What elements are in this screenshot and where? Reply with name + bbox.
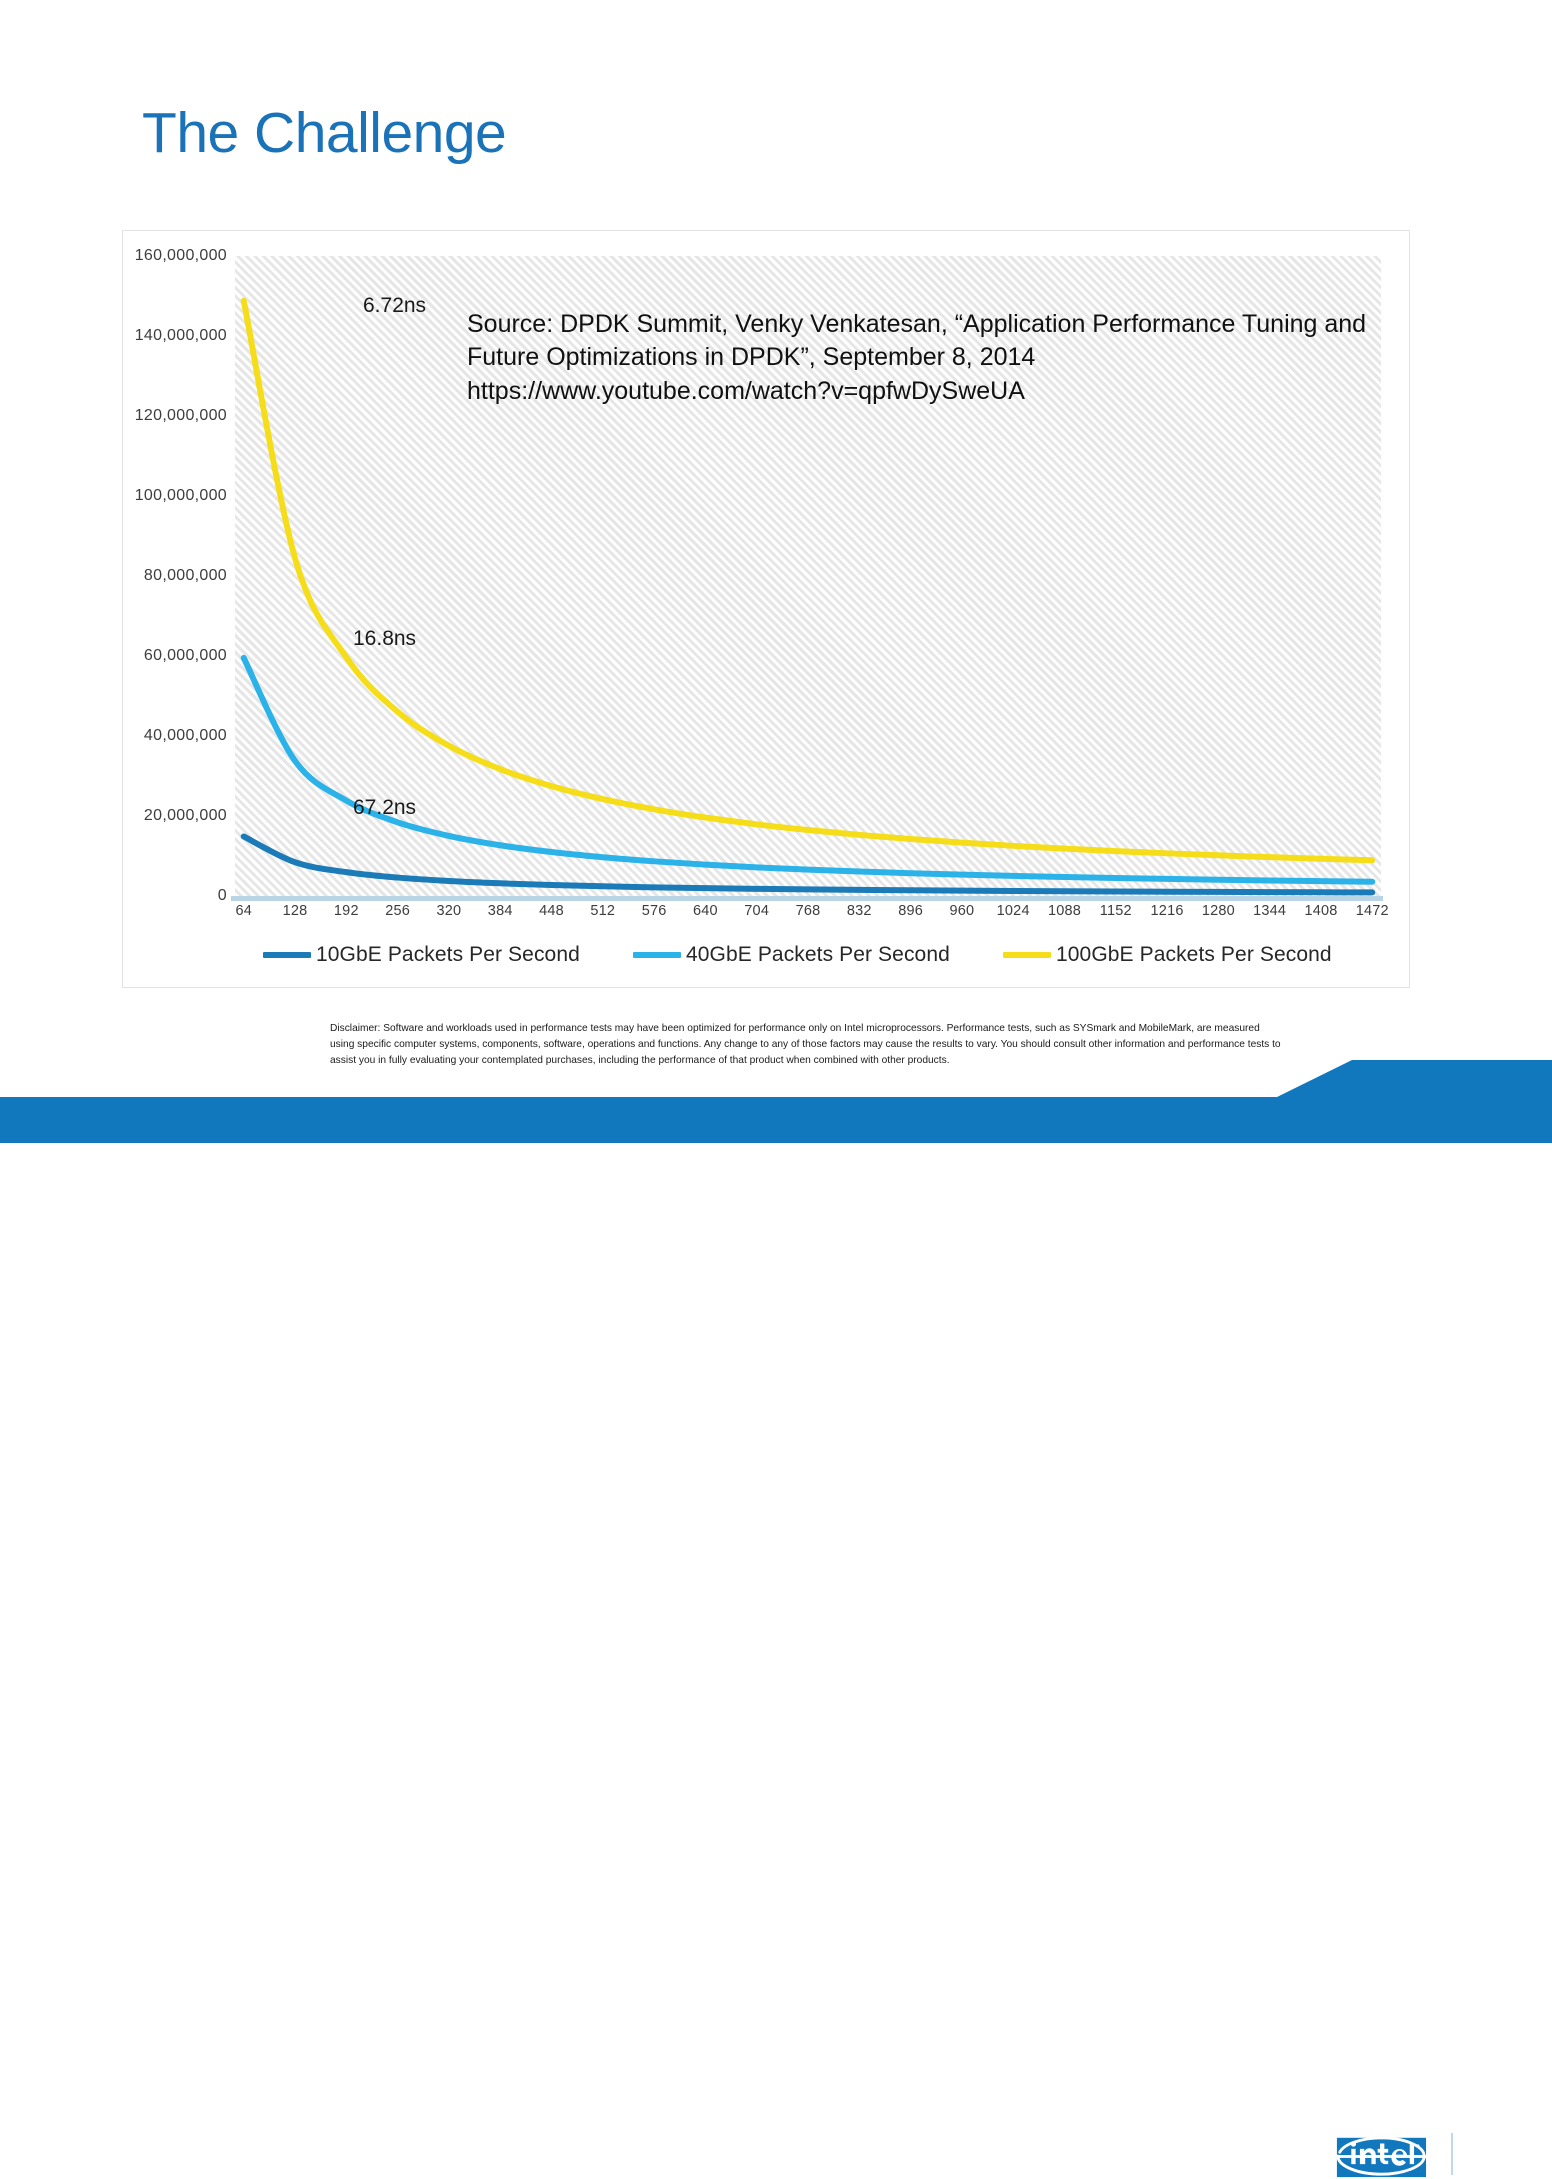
x-axis-tick-label: 960	[949, 903, 974, 919]
y-axis-tick-label: 20,000,000	[144, 807, 227, 825]
x-axis-tick-label: 768	[796, 903, 821, 919]
x-axis-tick-label: 1344	[1253, 903, 1286, 919]
disclaimer-text: Disclaimer: Software and workloads used …	[330, 1021, 1285, 1068]
y-axis-tick-label: 60,000,000	[144, 647, 227, 665]
x-axis-tick-label: 256	[385, 903, 410, 919]
y-axis-tick-label: 120,000,000	[135, 407, 227, 425]
y-axis-tick-label: 80,000,000	[144, 567, 227, 585]
y-axis-tick-label: 160,000,000	[135, 247, 227, 265]
x-axis-line	[231, 896, 1383, 901]
source-note-line-2: Future Optimizations in DPDK”, September…	[467, 341, 1482, 374]
x-axis-tick-label: 1152	[1100, 903, 1132, 919]
legend-item[interactable]: 40GbE Packets Per Second	[633, 943, 950, 967]
legend-item[interactable]: 100GbE Packets Per Second	[1003, 943, 1332, 967]
legend-color-swatch	[633, 952, 681, 958]
y-axis-ticks: 160,000,000140,000,000120,000,000100,000…	[123, 231, 227, 987]
legend-label: 40GbE Packets Per Second	[686, 943, 950, 967]
y-axis-tick-label: 100,000,000	[135, 487, 227, 505]
x-axis-ticks: 6412819225632038444851257664070476883289…	[235, 903, 1381, 929]
plot-annotation: 6.72ns	[363, 294, 426, 318]
intel-logo	[1333, 2133, 1429, 2179]
source-note-line-3: https://www.youtube.com/watch?v=qpfwDySw…	[467, 375, 1482, 408]
plot-annotation: 67.2ns	[353, 796, 416, 820]
footer-shape	[0, 1060, 1552, 1199]
x-axis-tick-label: 1280	[1202, 903, 1235, 919]
legend-label: 10GbE Packets Per Second	[316, 943, 580, 967]
x-axis-tick-label: 448	[539, 903, 564, 919]
x-axis-tick-label: 128	[283, 903, 308, 919]
source-note: Source: DPDK Summit, Venky Venkatesan, “…	[467, 308, 1482, 408]
x-axis-tick-label: 1088	[1048, 903, 1081, 919]
x-axis-tick-label: 1408	[1304, 903, 1337, 919]
legend-label: 100GbE Packets Per Second	[1056, 943, 1332, 967]
y-axis-tick-label: 0	[218, 887, 227, 905]
series-line	[244, 836, 1373, 892]
x-axis-tick-label: 576	[642, 903, 667, 919]
legend-color-swatch	[1003, 952, 1051, 958]
page-title: The Challenge	[142, 104, 506, 164]
series-line	[244, 658, 1373, 882]
chart-container: Saturation Line Rate (MPPS) 160,000,0001…	[122, 230, 1410, 988]
plot-area: Source: DPDK Summit, Venky Venkatesan, “…	[235, 256, 1381, 896]
x-axis-tick-label: 640	[693, 903, 718, 919]
x-axis-tick-label: 896	[898, 903, 923, 919]
x-axis-tick-label: 1472	[1356, 903, 1389, 919]
x-axis-tick-label: 512	[590, 903, 615, 919]
x-axis-tick-label: 192	[334, 903, 359, 919]
x-axis-tick-label: 832	[847, 903, 872, 919]
plot-annotation: 16.8ns	[353, 627, 416, 651]
chart-legend: 10GbE Packets Per Second40GbE Packets Pe…	[235, 937, 1381, 973]
legend-item[interactable]: 10GbE Packets Per Second	[263, 943, 580, 967]
y-axis-tick-label: 40,000,000	[144, 727, 227, 745]
y-axis-tick-label: 140,000,000	[135, 327, 227, 345]
footer-bar	[0, 1060, 1552, 1199]
x-axis-tick-label: 704	[744, 903, 769, 919]
x-axis-tick-label: 64	[235, 903, 252, 919]
x-axis-tick-label: 1216	[1151, 903, 1184, 919]
x-axis-tick-label: 1024	[997, 903, 1030, 919]
source-note-line-1: Source: DPDK Summit, Venky Venkatesan, “…	[467, 308, 1482, 341]
x-axis-tick-label: 384	[488, 903, 513, 919]
x-axis-tick-label: 320	[437, 903, 462, 919]
footer-divider	[1451, 2133, 1453, 2175]
legend-color-swatch	[263, 952, 311, 958]
